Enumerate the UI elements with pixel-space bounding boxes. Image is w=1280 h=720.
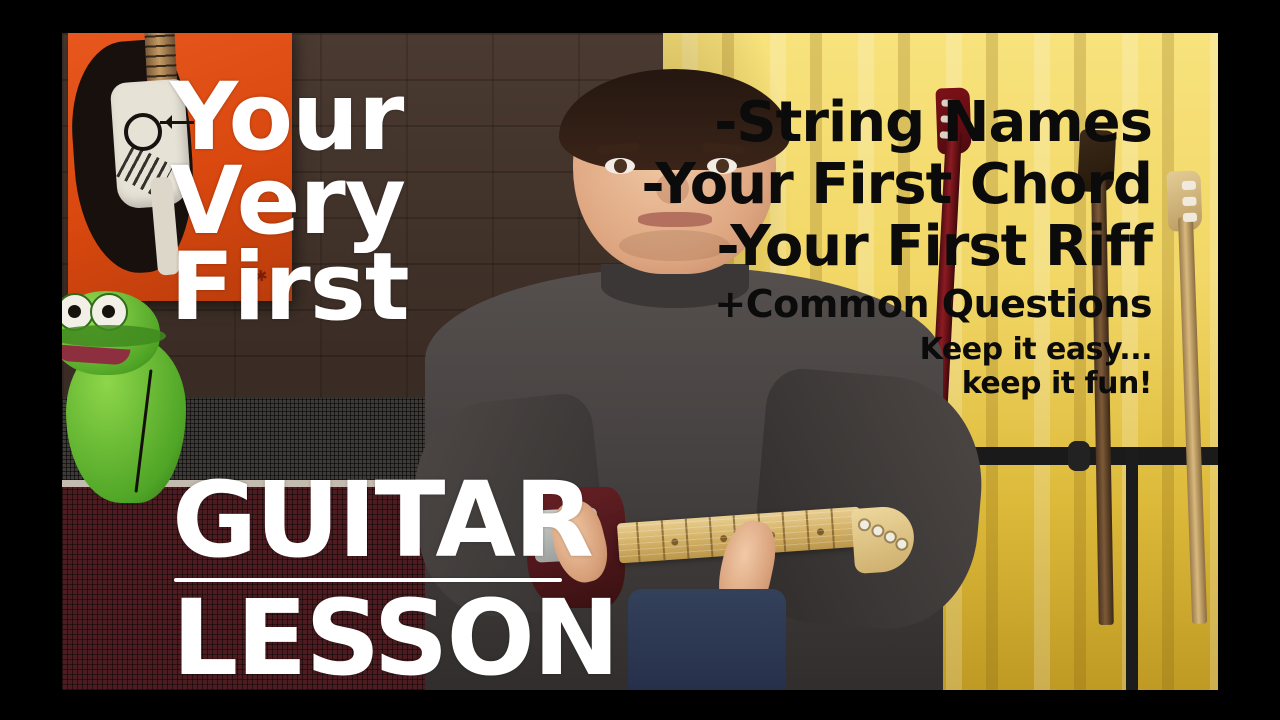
tagline-line-1: Keep it easy...: [641, 335, 1152, 365]
bullet-your-first-riff: -Your First Riff: [641, 219, 1152, 275]
tuning-peg: [1181, 181, 1195, 190]
plush-mouth: [62, 344, 130, 365]
tuning-peg: [860, 519, 870, 529]
tuning-peg: [872, 526, 882, 536]
painted-guitar-knob: [124, 113, 162, 151]
title-word-lesson: LESSON: [172, 591, 618, 687]
tuning-peg: [1182, 213, 1196, 222]
title-overlay-left: Your Very First: [170, 73, 670, 334]
tagline-line-2: keep it fun!: [641, 369, 1152, 399]
tuning-peg: [896, 539, 906, 549]
video-thumbnail: ✱: [0, 0, 1280, 720]
title-word-guitar: GUITAR: [172, 473, 592, 569]
tuning-peg: [885, 532, 895, 542]
tuning-peg: [1182, 197, 1196, 206]
rack-post: [1126, 447, 1138, 690]
title-line-3: First: [170, 243, 670, 333]
video-frame: ✱: [62, 33, 1218, 690]
bullet-your-first-chord: -Your First Chord: [641, 157, 1152, 213]
bullet-common-questions: +Common Questions: [641, 285, 1152, 323]
person-jeans: [628, 589, 785, 690]
bullet-overlay-right: -String Names -Your First Chord -Your Fi…: [641, 95, 1152, 399]
rack-nub: [1068, 441, 1090, 471]
bullet-string-names: -String Names: [641, 95, 1152, 151]
underline-guitar: [174, 578, 562, 582]
